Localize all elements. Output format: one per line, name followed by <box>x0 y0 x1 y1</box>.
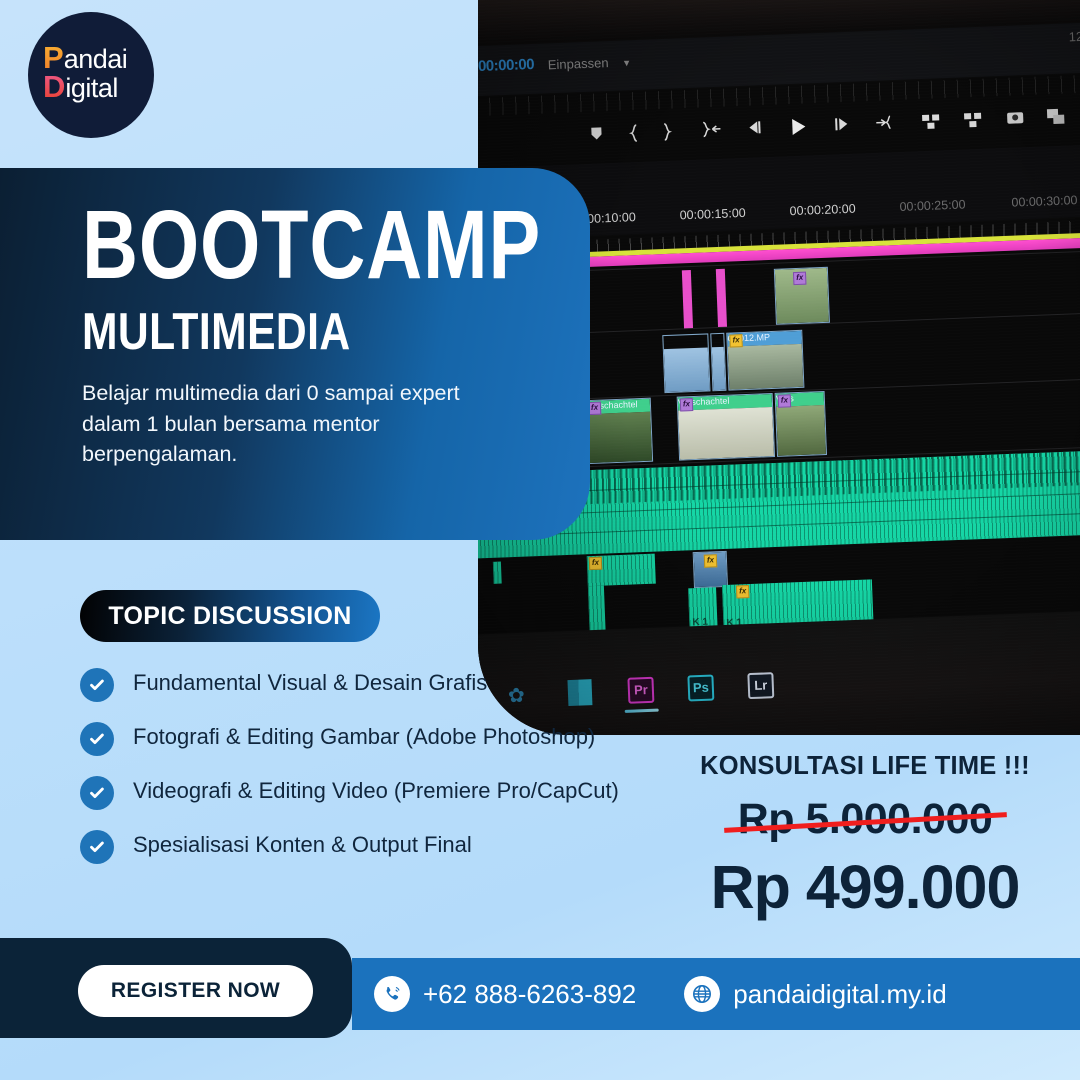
page-description: Belajar multimedia dari 0 sampai expert … <box>82 378 482 470</box>
logo-word-igital: igital <box>65 75 118 102</box>
globe-icon <box>684 976 720 1012</box>
ruler-label: 00:00:15:00 <box>679 206 746 223</box>
fx-badge-icon: fx <box>736 585 749 598</box>
list-item: Spesialisasi Konten & Output Final <box>80 830 640 884</box>
fx-badge-icon: fx <box>793 272 806 285</box>
mark-in-icon <box>628 124 641 142</box>
website-url: pandaidigital.my.id <box>733 979 946 1010</box>
phone-number: +62 888-6263-892 <box>423 979 636 1010</box>
fx-badge-icon: fx <box>589 557 602 570</box>
mark-out-icon <box>660 123 673 141</box>
timeline-clip: Verschachtel fx <box>585 398 653 464</box>
fx-badge-icon: fx <box>704 554 717 567</box>
fit-dropdown-label: Einpassen <box>548 55 609 72</box>
timeline-clip: C0012.MP fx <box>726 330 804 391</box>
topic-label: Spesialisasi Konten & Output Final <box>133 832 472 858</box>
check-circle-icon <box>80 668 114 702</box>
marker-icon <box>588 125 605 142</box>
timeline-clip: fx <box>693 551 728 588</box>
topic-list: Fundamental Visual & Desain Grafis Fotog… <box>80 668 640 884</box>
step-back-icon <box>746 119 765 136</box>
play-icon <box>788 117 807 136</box>
timeline-clip: Verschachtel fx <box>677 393 775 461</box>
timeline-clip: fx <box>774 267 830 325</box>
logo-wordmark: P andai D igital <box>43 42 139 108</box>
check-circle-icon <box>80 776 114 810</box>
check-circle-icon <box>80 722 114 756</box>
poster-canvas: 00:00:00:00 Einpassen ▾ 12 <box>0 0 1080 1080</box>
playhead-timecode: 00:00:00:00 <box>478 56 534 76</box>
topic-badge-label: TOPIC DISCUSSION <box>108 602 351 631</box>
price-headline: KONSULTASI LIFE TIME !!! <box>660 752 1070 781</box>
page-subtitle: MULTIMEDIA <box>82 306 351 358</box>
topic-label: Videografi & Editing Video (Premiere Pro… <box>133 778 619 804</box>
ruler-label: 00:00:25:00 <box>899 197 966 214</box>
website-contact[interactable]: pandaidigital.my.id <box>684 976 946 1012</box>
lightroom-icon: Lr <box>747 672 774 699</box>
screen-corner-number: 12 <box>1068 29 1080 45</box>
ruler-label: 00:00:30:00 <box>1011 193 1078 210</box>
timeline-clip <box>662 333 710 393</box>
register-button-label: REGISTER NOW <box>111 979 280 1003</box>
export-frame-icon <box>1046 108 1067 127</box>
list-item: Fotografi & Editing Gambar (Adobe Photos… <box>80 722 640 776</box>
topic-label: Fotografi & Editing Gambar (Adobe Photos… <box>133 724 595 750</box>
check-circle-icon <box>80 830 114 864</box>
lift-icon <box>920 112 943 131</box>
old-price-wrapper: Rp 5.000.000 <box>738 795 993 844</box>
phone-contact[interactable]: +62 888-6263-892 <box>374 976 636 1012</box>
logo-word-andai: andai <box>64 46 128 73</box>
audio-clip <box>493 562 502 584</box>
chevron-down-icon: ▾ <box>624 56 630 69</box>
page-title: BOOTCAMP <box>82 196 541 293</box>
footer-contact-bar: +62 888-6263-892 pandaidigital.my.id <box>352 958 1080 1030</box>
fx-badge-icon: fx <box>729 334 742 347</box>
audio-clip <box>588 586 606 637</box>
ruler-label: 00:00:20:00 <box>789 202 856 219</box>
goto-out-icon <box>874 114 897 131</box>
step-forward-icon <box>832 116 851 133</box>
audio-clip: K 1 <box>688 587 718 630</box>
brand-logo: P andai D igital <box>28 12 154 138</box>
goto-in-icon <box>700 121 723 138</box>
fx-badge-icon: fx <box>778 394 791 407</box>
topic-label: Fundamental Visual & Desain Grafis <box>133 670 487 696</box>
list-item: Fundamental Visual & Desain Grafis <box>80 668 640 722</box>
price-block: KONSULTASI LIFE TIME !!! Rp 5.000.000 Rp… <box>660 752 1070 922</box>
headline-panel: BOOTCAMP MULTIMEDIA Belajar multimedia d… <box>0 168 590 540</box>
audio-clip: fx <box>587 554 656 587</box>
timeline-clip <box>710 333 726 391</box>
fx-badge-icon: fx <box>680 398 693 411</box>
extract-icon <box>962 111 985 130</box>
logo-letter-d: D <box>43 71 65 102</box>
phone-icon <box>374 976 410 1012</box>
topic-discussion-badge: TOPIC DISCUSSION <box>80 590 380 642</box>
new-price: Rp 499.000 <box>660 852 1070 922</box>
register-now-button[interactable]: REGISTER NOW <box>78 965 313 1017</box>
logo-line-2: D igital <box>43 71 118 102</box>
photoshop-icon: Ps <box>687 674 714 701</box>
timeline-clip: Vers fx <box>775 391 827 457</box>
list-item: Videografi & Editing Video (Premiere Pro… <box>80 776 640 830</box>
camera-icon <box>1006 109 1025 126</box>
